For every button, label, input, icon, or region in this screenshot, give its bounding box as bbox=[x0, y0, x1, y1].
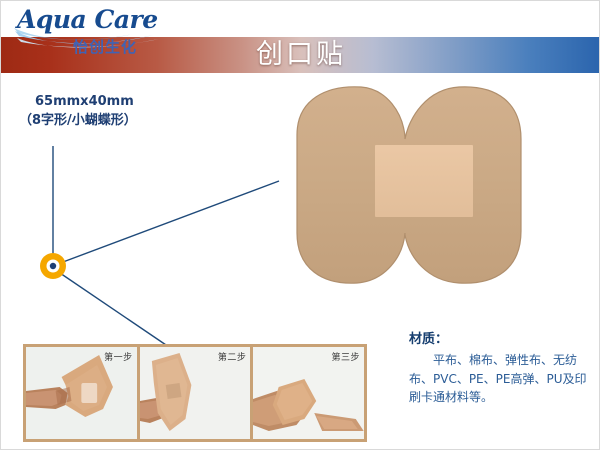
material-heading: 材质： bbox=[409, 328, 589, 347]
step-2-label: 第二步 bbox=[218, 350, 247, 363]
step-3-photo[interactable]: 第三步 bbox=[253, 347, 364, 439]
callout-target-icon bbox=[40, 253, 66, 279]
material-section: 材质： 平布、棉布、弹性布、无纺布、PVC、PE、PE高弹、PU及印刷卡通材料等… bbox=[409, 328, 589, 407]
product-image-bow-tie-bandage bbox=[253, 77, 553, 304]
material-body: 平布、棉布、弹性布、无纺布、PVC、PE、PE高弹、PU及印刷卡通材料等。 bbox=[409, 351, 589, 407]
shape-note: （8字形/小蝴蝶形） bbox=[19, 112, 137, 131]
step-1-label: 第一步 bbox=[104, 350, 133, 363]
brand-logo: Aqua Care 怡创生化 bbox=[15, 5, 185, 61]
instruction-photo-strip: 第一步 第二步 第三步 bbox=[23, 344, 367, 442]
step-2-photo[interactable]: 第二步 bbox=[140, 347, 251, 439]
brand-name-cn: 怡创生化 bbox=[73, 36, 137, 57]
step-1-photo[interactable]: 第一步 bbox=[26, 347, 137, 439]
step-3-label: 第三步 bbox=[332, 350, 361, 363]
slide-page: 创口贴 Aqua Care 怡创生化 65mmx40mm （8字形/小蝴蝶形） bbox=[0, 0, 600, 450]
dimension-value: 65mmx40mm bbox=[19, 93, 137, 112]
dimension-callout-label: 65mmx40mm （8字形/小蝴蝶形） bbox=[19, 93, 137, 131]
